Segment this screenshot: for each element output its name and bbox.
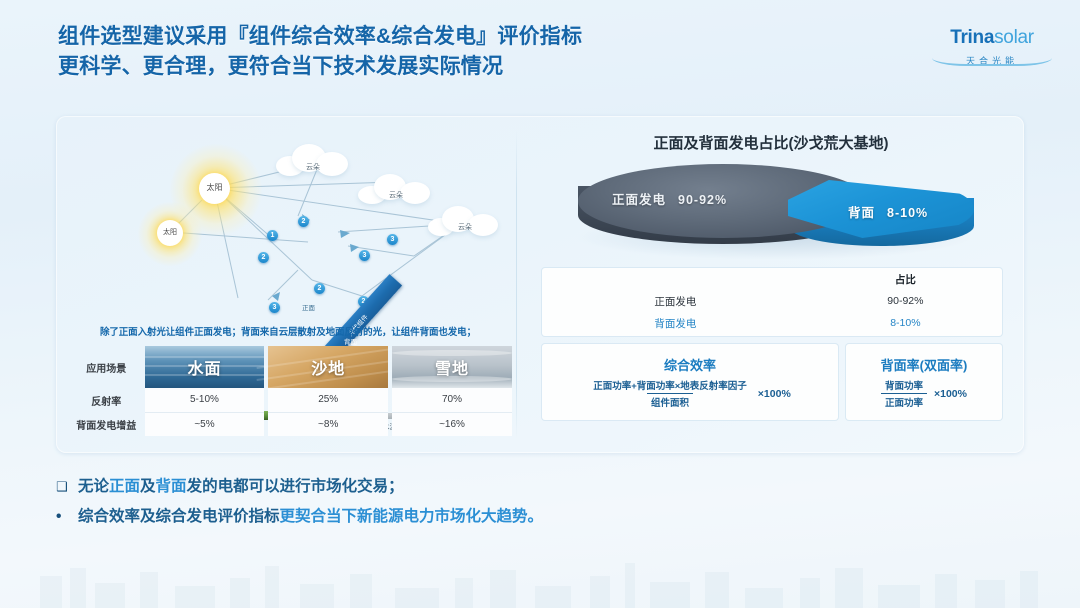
ray-badge-2d: 2 bbox=[314, 283, 325, 294]
rear-gain-sand: ~8% bbox=[268, 412, 388, 436]
scene-cell-snow: 雪地 bbox=[392, 346, 512, 388]
sun-main-text: 太阳 bbox=[207, 184, 223, 192]
content-panel: 太阳 太阳 云朵 云朵 云朵 1 2 2 2 3 bbox=[56, 116, 1024, 453]
diagram-caption: 除了正面入射光让组件正面发电；背面来自云层散射及地面反射的光，让组件背面也发电； bbox=[64, 324, 512, 338]
table-row-scene: 应用场景 水面 沙地 bbox=[68, 346, 512, 388]
rear-gain-snow: ~16% bbox=[392, 412, 512, 436]
formula-1-multiplier: ×100% bbox=[758, 388, 791, 400]
formula-2-multiplier: ×100% bbox=[934, 388, 967, 400]
reflectivity-sand: 25% bbox=[268, 388, 388, 412]
page-title: 组件选型建议采用『组件综合效率&综合发电』评价指标 更科学、更合理，更符合当下技… bbox=[58, 22, 838, 82]
ratio-row-front-name: 正面发电 bbox=[542, 290, 809, 312]
cloud-2: 云朵 bbox=[358, 172, 434, 204]
pv-front-label: 正面 bbox=[302, 302, 315, 312]
scene-cell-sand: 沙地 bbox=[268, 346, 388, 388]
formula-1-title: 综合效率 bbox=[664, 355, 716, 374]
ratio-row-back-value: 8-10% bbox=[809, 312, 1002, 334]
bullet-1-highlight2: 背面 bbox=[156, 478, 187, 495]
logo-arc-icon bbox=[932, 50, 1052, 66]
bullet-2-part1: 综合效率及综合发电评价指标 bbox=[78, 508, 280, 525]
ratio-table: 占比 正面发电 90-92% 背面发电 8-10% bbox=[542, 268, 1002, 336]
bullet-square-icon: ❑ bbox=[56, 472, 78, 502]
ray-badge-2b: 2 bbox=[258, 252, 269, 263]
ray-badge-3c: 3 bbox=[269, 302, 280, 313]
bullet-item-2: •综合效率及综合发电评价指标更契合当下新能源电力市场化大趋势。 bbox=[56, 502, 1016, 532]
ray-badge-3b: 3 bbox=[359, 250, 370, 261]
formula-1-denominator: 组件面积 bbox=[647, 393, 693, 409]
pie-label-front-name: 正面发电 bbox=[612, 193, 666, 207]
formula-overall-efficiency: 综合效率 正面功率+背面功率×地表反射率因子 组件面积 ×100% bbox=[542, 344, 838, 420]
bifacial-illustration: 太阳 太阳 云朵 云朵 云朵 1 2 2 2 3 bbox=[62, 120, 514, 320]
cloud-1: 云朵 bbox=[274, 142, 352, 176]
right-section: 正面及背面发电占比(沙戈荒大基地) 正面发电90-92% 背面8-10% 占比 bbox=[518, 116, 1024, 453]
table-row-reflectivity: 反射率 5-10% 25% 70% bbox=[68, 388, 512, 412]
ratio-table-header: 占比 bbox=[542, 268, 1002, 290]
formula-2-numerator: 背面功率 bbox=[881, 378, 927, 393]
scene-cell-water: 水面 bbox=[145, 346, 265, 388]
bullet-1-highlight1: 正面 bbox=[109, 478, 140, 495]
formula-boxes: 综合效率 正面功率+背面功率×地表反射率因子 组件面积 ×100% 背面率(双面… bbox=[542, 344, 1002, 420]
pie-label-back-value: 8-10% bbox=[887, 206, 928, 220]
pie-chart: 正面发电90-92% 背面8-10% bbox=[560, 158, 980, 263]
table-row: 正面发电 90-92% bbox=[542, 290, 1002, 312]
ray-badge-3a: 3 bbox=[387, 234, 398, 245]
trina-solar-logo: Trinasolar 天合光能 bbox=[928, 28, 1056, 67]
ratio-row-front-value: 90-92% bbox=[809, 290, 1002, 312]
scene-row-label: 应用场景 bbox=[68, 346, 145, 388]
logo-solar-text: solar bbox=[994, 27, 1034, 48]
scene-table: 应用场景 水面 沙地 bbox=[68, 346, 512, 436]
cloud-2-label: 云朵 bbox=[358, 190, 434, 200]
cloud-1-label: 云朵 bbox=[274, 162, 352, 172]
pie-chart-title: 正面及背面发电占比(沙戈荒大基地) bbox=[518, 132, 1024, 153]
ray-badge-2a: 2 bbox=[298, 216, 309, 227]
city-skyline-watermark bbox=[0, 528, 1080, 608]
bullet-1-part1: 无论 bbox=[78, 478, 109, 495]
sun-label-main: 太阳 bbox=[199, 173, 230, 204]
table-row-rear-gain: 背面发电增益 ~5% ~8% ~16% bbox=[68, 412, 512, 436]
formula-1-numerator: 正面功率+背面功率×地表反射率因子 bbox=[589, 378, 751, 393]
rear-gain-water: ~5% bbox=[145, 412, 265, 436]
pie-label-back-name: 背面 bbox=[848, 206, 875, 220]
rear-gain-row-label: 背面发电增益 bbox=[68, 412, 145, 436]
pie-label-front-value: 90-92% bbox=[678, 193, 727, 207]
logo-trina-text: Trina bbox=[950, 27, 994, 48]
page-title-line2: 更科学、更合理，更符合当下技术发展实际情况 bbox=[58, 52, 838, 82]
formula-bifaciality: 背面率(双面率) 背面功率 正面功率 ×100% bbox=[846, 344, 1002, 420]
pie-label-back: 背面8-10% bbox=[848, 202, 928, 221]
slide-header: 组件选型建议采用『组件综合效率&综合发电』评价指标 更科学、更合理，更符合当下技… bbox=[0, 0, 1080, 105]
ray-badge-1: 1 bbox=[267, 230, 278, 241]
reflectivity-row-label: 反射率 bbox=[68, 388, 145, 412]
sun-secondary-text: 太阳 bbox=[163, 229, 177, 236]
bullet-1-part2: 及 bbox=[140, 478, 156, 495]
pie-label-front: 正面发电90-92% bbox=[612, 189, 727, 208]
formula-2-title: 背面率(双面率) bbox=[881, 355, 968, 374]
bullet-2-highlight1: 更契合当下新能源电力市场化大趋势。 bbox=[280, 508, 544, 525]
bullet-item-1: ❑无论正面及背面发的电都可以进行市场化交易； bbox=[56, 472, 1016, 502]
cloud-3: 云朵 bbox=[428, 204, 502, 236]
formula-2-denominator: 正面功率 bbox=[881, 393, 927, 409]
cloud-3-label: 云朵 bbox=[428, 222, 502, 232]
bullet-1-part3: 发的电都可以进行市场化交易； bbox=[187, 478, 404, 495]
page-title-line1: 组件选型建议采用『组件综合效率&综合发电』评价指标 bbox=[58, 25, 582, 48]
sun-label-secondary: 太阳 bbox=[157, 220, 183, 246]
ratio-row-back-name: 背面发电 bbox=[542, 312, 809, 334]
bullet-dot-icon: • bbox=[56, 502, 78, 532]
ratio-header-value: 占比 bbox=[809, 268, 1002, 290]
reflectivity-water: 5-10% bbox=[145, 388, 265, 412]
panel-divider bbox=[516, 130, 517, 438]
table-row: 背面发电 8-10% bbox=[542, 312, 1002, 334]
ratio-header-blank bbox=[542, 268, 809, 290]
reflectivity-snow: 70% bbox=[392, 388, 512, 412]
bullet-list: ❑无论正面及背面发的电都可以进行市场化交易； •综合效率及综合发电评价指标更契合… bbox=[56, 472, 1016, 532]
